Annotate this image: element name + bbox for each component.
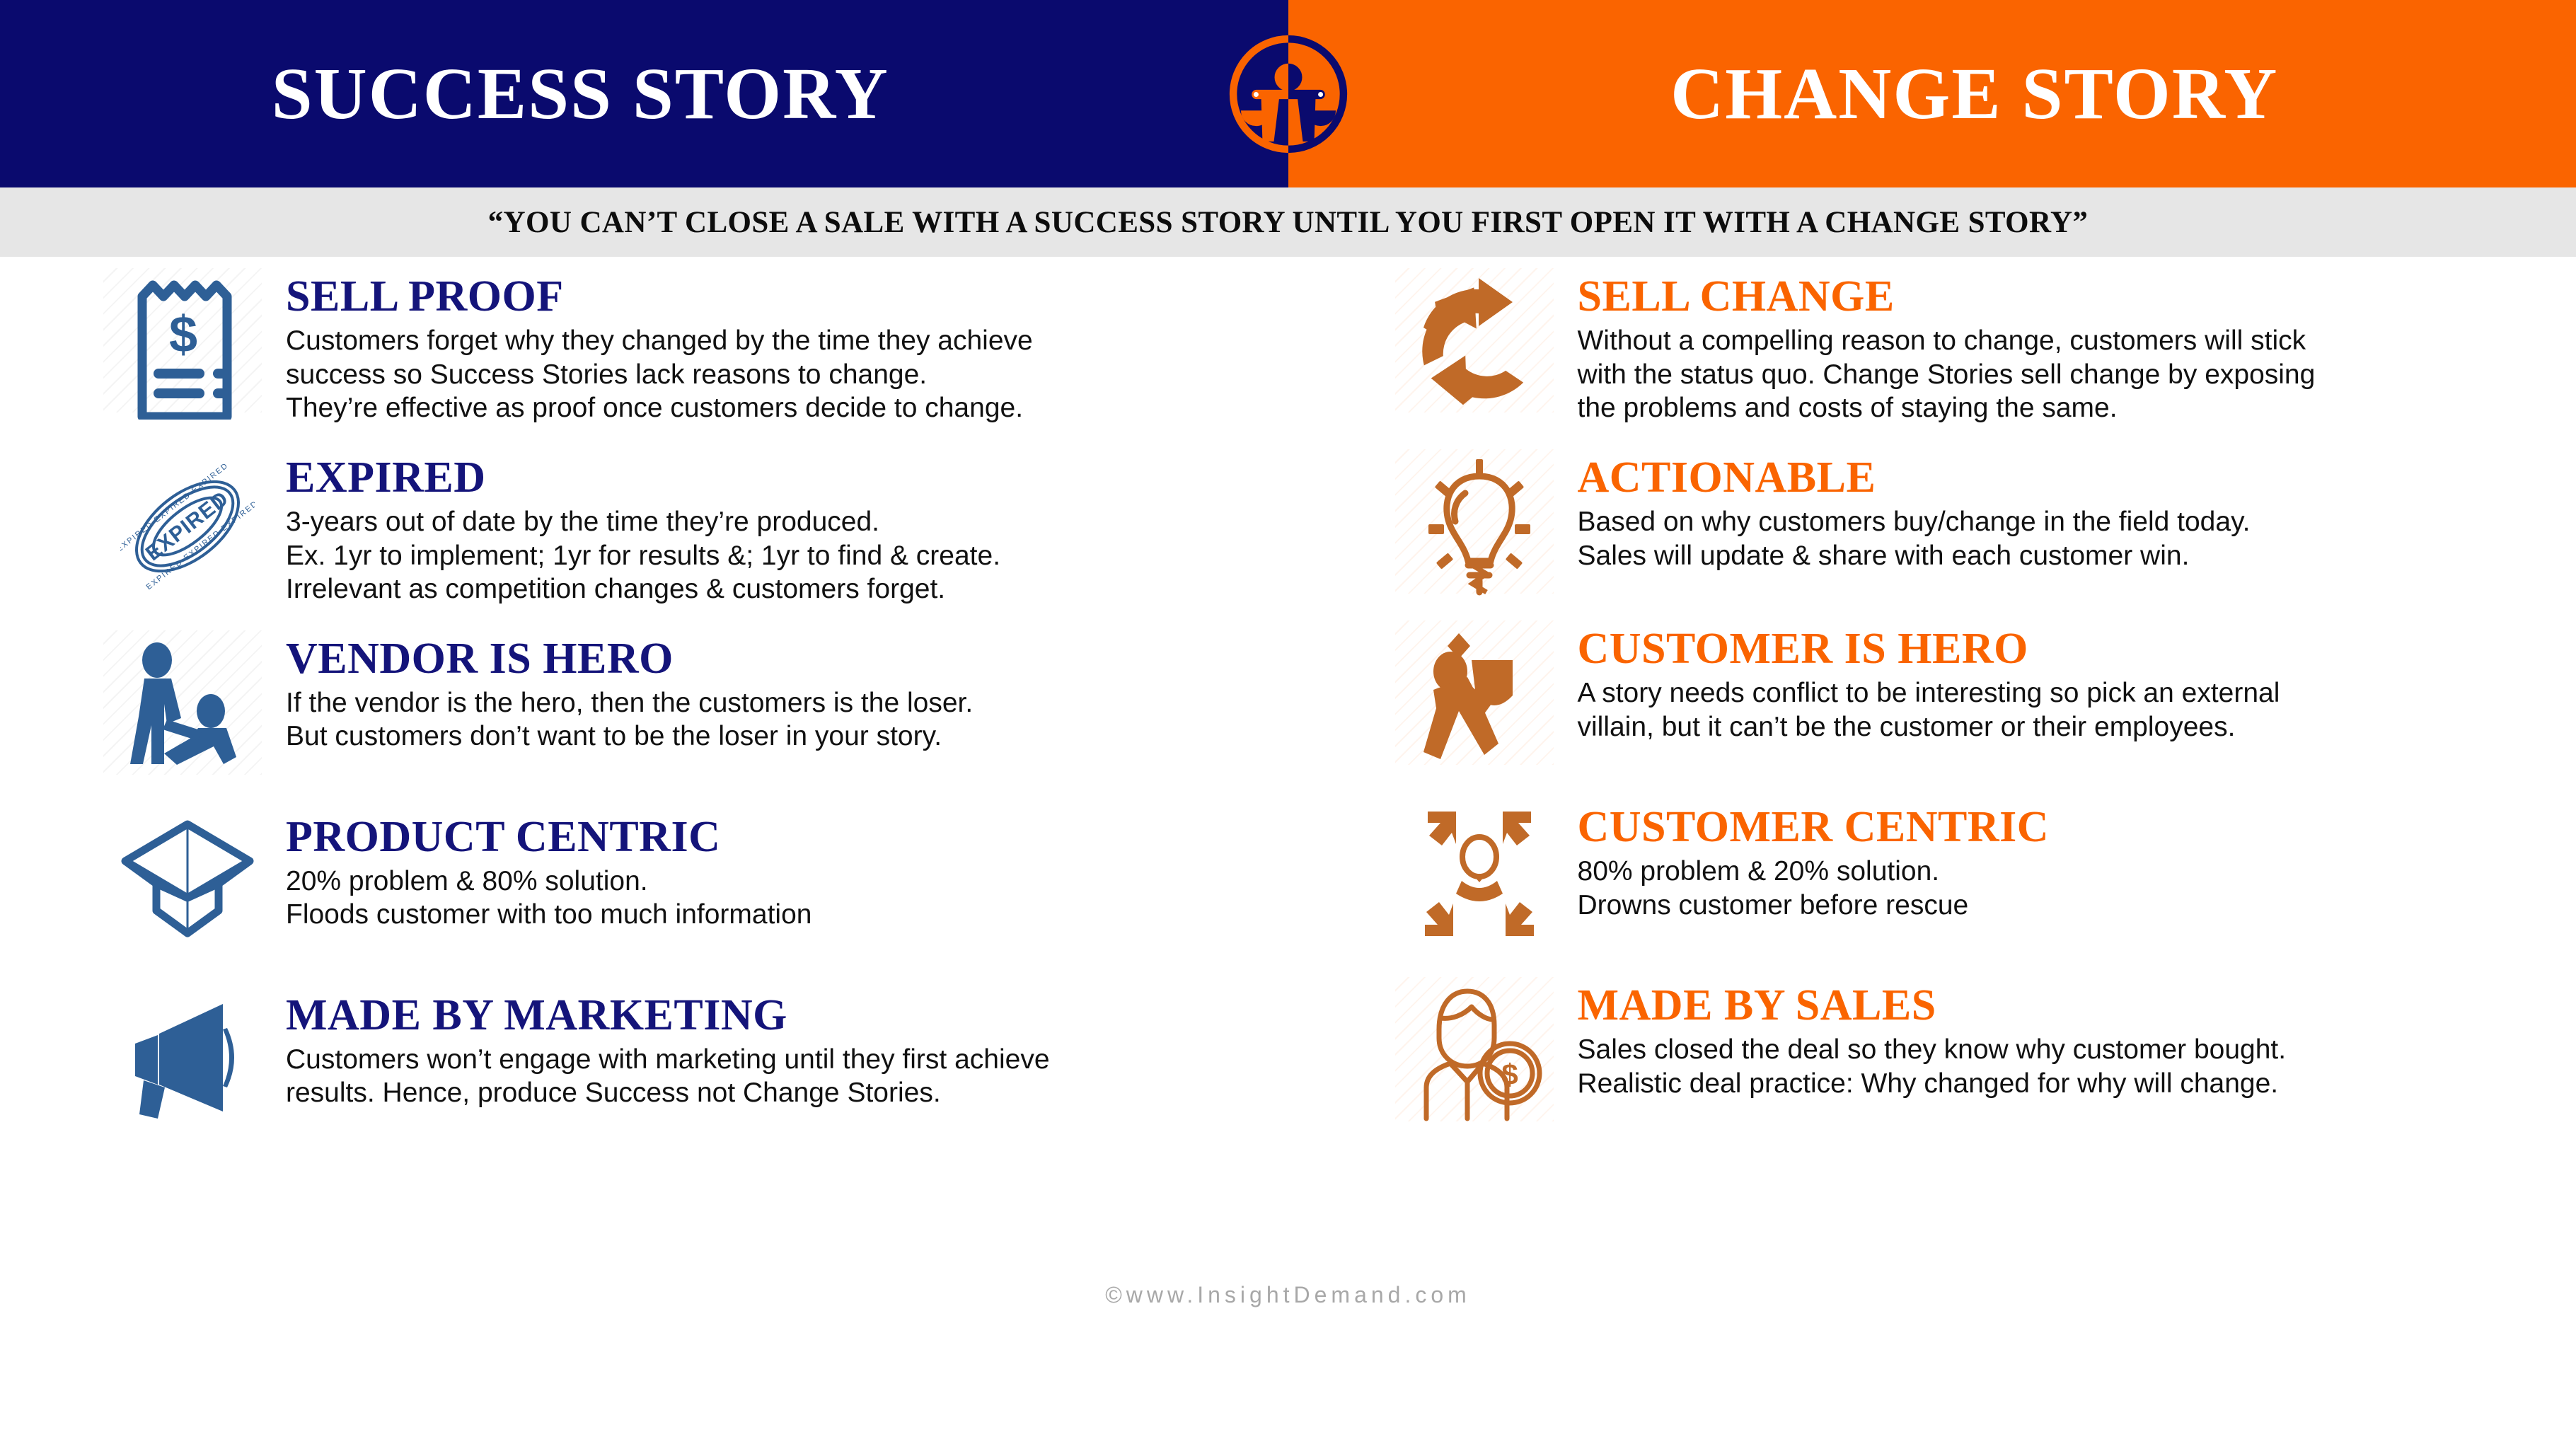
balance-scale-icon — [1221, 27, 1356, 161]
change-story-title: CHANGE STORY — [1670, 57, 2278, 131]
item-line: Sales closed the deal so they know why c… — [1578, 1033, 2287, 1067]
svg-text:$: $ — [169, 306, 197, 363]
item-line: the problems and costs of staying the sa… — [1578, 391, 2316, 425]
header-left-panel: SUCCESS STORY — [0, 0, 1288, 187]
lightbulb-icon — [1398, 455, 1561, 596]
item-title: SELL CHANGE — [1578, 274, 2316, 320]
item-body: CUSTOMER CENTRIC 80% problem & 20% solut… — [1561, 804, 2050, 922]
item-line: villain, but it can’t be the customer or… — [1578, 710, 2280, 744]
item-description: Based on why customers buy/change in the… — [1578, 505, 2251, 572]
item-description: A story needs conflict to be interesting… — [1578, 676, 2280, 744]
item-title: ACTIONABLE — [1578, 455, 2251, 501]
recycle-arrows-icon — [1398, 274, 1561, 415]
megaphone-icon — [106, 993, 269, 1134]
item-line: A story needs conflict to be interesting… — [1578, 676, 2280, 710]
item-description: 80% problem & 20% solution. Drowns custo… — [1578, 855, 2050, 922]
receipt-dollar-icon: $ — [106, 274, 269, 415]
infographic-page: SUCCESS STORY CHANGE STORY — [0, 0, 2576, 1432]
footer: ©www.InsightDemand.com — [0, 1282, 2576, 1308]
copyright-text: ©www.InsightDemand.com — [1105, 1282, 1471, 1307]
item-title: CUSTOMER IS HERO — [1578, 626, 2280, 672]
item-title: CUSTOMER CENTRIC — [1578, 804, 2050, 850]
person-helping-person-icon — [106, 636, 269, 778]
header-right-panel: CHANGE STORY — [1288, 0, 2576, 187]
open-box-icon — [106, 814, 269, 956]
item-line: Without a compelling reason to change, c… — [1578, 324, 2316, 358]
item-line: 80% problem & 20% solution. — [1578, 855, 2050, 889]
item-description: Sales closed the deal so they know why c… — [1578, 1033, 2287, 1100]
item-line: with the status quo. Change Stories sell… — [1578, 358, 2316, 392]
item-line: Based on why customers buy/change in the… — [1578, 505, 2251, 539]
item-description: Without a compelling reason to change, c… — [1578, 324, 2316, 425]
person-arrows-out-icon — [1398, 804, 1561, 946]
svg-text:$: $ — [1501, 1058, 1518, 1091]
item-body: SELL CHANGE Without a compelling reason … — [1561, 274, 2316, 425]
success-story-title: SUCCESS STORY — [272, 57, 889, 131]
subtitle-bar: “YOU CAN’T CLOSE A SALE WITH A SUCCESS S… — [0, 187, 2576, 257]
item-line: Drowns customer before rescue — [1578, 889, 2050, 923]
content-body: $ SELL PROOF Customers forget why they c… — [0, 257, 2576, 1134]
header: SUCCESS STORY CHANGE STORY — [0, 0, 2576, 187]
item-line: Realistic deal practice: Why changed for… — [1578, 1067, 2287, 1101]
item-title: MADE BY SALES — [1578, 983, 2287, 1029]
item-body: MADE BY SALES Sales closed the deal so t… — [1561, 983, 2287, 1100]
item-line: Sales will update & share with each cust… — [1578, 539, 2251, 573]
salesperson-coin-icon: $ — [1398, 983, 1561, 1124]
subtitle-text: “YOU CAN’T CLOSE A SALE WITH A SUCCESS S… — [488, 205, 2089, 240]
expired-stamp-icon: EXPIRED EXPIRED EXPIRED EXPIRED EXPIRED … — [106, 455, 269, 596]
superhero-icon — [1398, 626, 1561, 768]
item-body: CUSTOMER IS HERO A story needs conflict … — [1561, 626, 2280, 744]
item-body: ACTIONABLE Based on why customers buy/ch… — [1561, 455, 2251, 572]
